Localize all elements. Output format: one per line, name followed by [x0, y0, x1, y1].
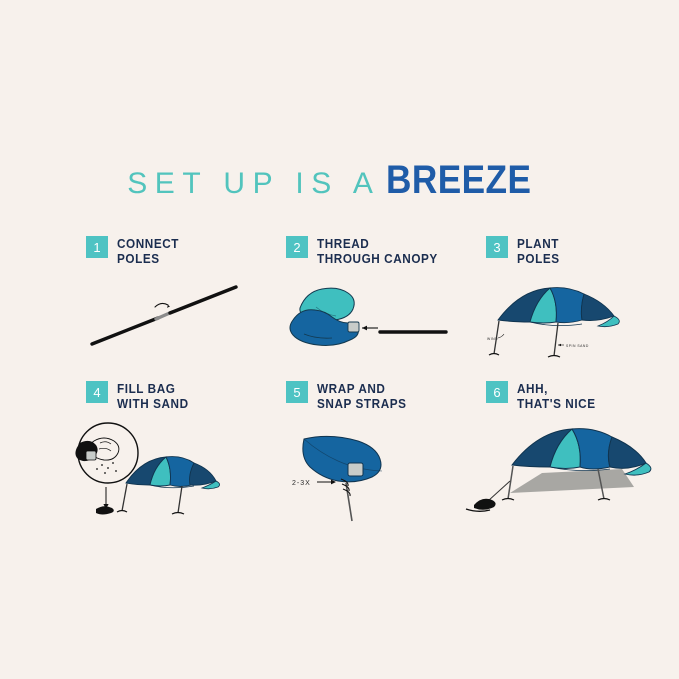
step-header-5: 5 WRAP AND SNAP STRAPS — [286, 381, 486, 412]
step-item-2: 2 THREAD THROUGH CANOPY — [286, 236, 486, 381]
step-item-4: 4 FILL BAG WITH SAND — [86, 381, 286, 526]
step-illustration-5: 2-3X — [286, 421, 486, 521]
step-label-line: PLANT — [517, 237, 560, 252]
strap-wrap-icon: 2-3X — [286, 421, 476, 521]
step-illustration-1 — [86, 276, 286, 376]
step-header-3: 3 PLANT POLES — [486, 236, 661, 267]
step-label-line: THREAD — [317, 237, 438, 252]
step-badge-2: 2 — [286, 236, 308, 258]
canopy-thread-icon — [286, 276, 476, 376]
step-badge-3: 3 — [486, 236, 508, 258]
annotation-wrap-count: 2-3X — [292, 480, 311, 487]
step-label-3: PLANT POLES — [517, 236, 560, 267]
step-item-6: 6 AHH, THAT'S NICE — [486, 381, 661, 526]
step-label-line: THAT'S NICE — [517, 397, 596, 412]
step-label-line: WRAP AND — [317, 382, 407, 397]
step-label-line: POLES — [117, 252, 179, 267]
step-label-line: AHH, — [517, 382, 596, 397]
annotation-wind: WIND — [487, 337, 498, 341]
canopy-planted-icon: WIND SPIN SAND — [486, 276, 661, 376]
step-item-5: 5 WRAP AND SNAP STRAPS — [286, 381, 486, 526]
step-label-line: THROUGH CANOPY — [317, 252, 438, 267]
pole-connect-icon — [86, 276, 276, 376]
title-bold-part: BREEZE — [386, 158, 531, 203]
step-badge-1: 1 — [86, 236, 108, 258]
step-label-line: POLES — [517, 252, 560, 267]
page-title: SET UP IS ABREEZE — [0, 158, 679, 203]
annotation-spin-sand: SPIN SAND — [566, 344, 589, 348]
step-header-2: 2 THREAD THROUGH CANOPY — [286, 236, 486, 267]
step-item-1: 1 CONNECT POLES — [86, 236, 286, 381]
step-illustration-4 — [86, 421, 286, 521]
step-header-6: 6 AHH, THAT'S NICE — [486, 381, 661, 412]
step-badge-4: 4 — [86, 381, 108, 403]
step-illustration-3: WIND SPIN SAND — [486, 276, 661, 376]
step-illustration-2 — [286, 276, 486, 376]
step-header-4: 4 FILL BAG WITH SAND — [86, 381, 286, 412]
step-header-1: 1 CONNECT POLES — [86, 236, 286, 267]
step-label-6: AHH, THAT'S NICE — [517, 381, 596, 412]
step-item-3: 3 PLANT POLES — [486, 236, 661, 381]
step-illustration-6 — [486, 421, 661, 521]
infographic-poster: SET UP IS ABREEZE 1 CONNECT POLES — [0, 0, 679, 679]
step-label-line: FILL BAG — [117, 382, 189, 397]
step-badge-6: 6 — [486, 381, 508, 403]
step-label-line: SNAP STRAPS — [317, 397, 407, 412]
step-label-2: THREAD THROUGH CANOPY — [317, 236, 438, 267]
step-badge-5: 5 — [286, 381, 308, 403]
step-label-line: WITH SAND — [117, 397, 189, 412]
step-label-1: CONNECT POLES — [117, 236, 179, 267]
step-label-5: WRAP AND SNAP STRAPS — [317, 381, 407, 412]
canopy-complete-icon — [486, 421, 676, 521]
steps-grid: 1 CONNECT POLES — [86, 236, 606, 526]
step-label-4: FILL BAG WITH SAND — [117, 381, 189, 412]
sand-bag-fill-icon — [86, 421, 276, 521]
title-light-part: SET UP IS A — [127, 167, 380, 200]
step-label-line: CONNECT — [117, 237, 179, 252]
